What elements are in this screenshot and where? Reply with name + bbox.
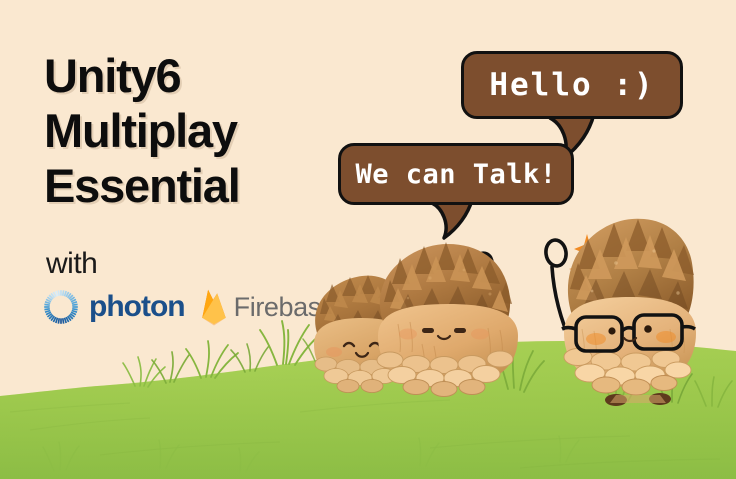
- medium-pinecone-character: [368, 232, 533, 412]
- page-title: Unity6 Multiplay Essential: [44, 48, 364, 213]
- promo-banner: Unity6 Multiplay Essential with: [0, 0, 736, 479]
- speech-bubble-hello: Hello :): [461, 51, 683, 119]
- photon-ring-icon: [40, 286, 82, 328]
- medium-pinecone-scales: [377, 351, 513, 397]
- firebase-flame-icon: [199, 288, 229, 326]
- speech-bubble-talk: We can Talk!: [338, 143, 574, 205]
- glasses-pinecone-scales: [564, 349, 691, 396]
- headline-line-2: Multiplay: [44, 103, 364, 158]
- photon-logo[interactable]: photon: [40, 286, 185, 328]
- speech-bubble-talk-text: We can Talk!: [355, 159, 556, 190]
- headline-line-3: Essential: [44, 158, 364, 213]
- with-label: with: [46, 247, 97, 281]
- speech-bubble-hello-text: Hello :): [489, 67, 654, 103]
- glasses-pinecone-character: [520, 205, 705, 420]
- photon-wordmark: photon: [89, 290, 185, 324]
- sponsor-logo-row: photon Firebase: [40, 286, 335, 328]
- headline-line-1: Unity6: [44, 48, 364, 103]
